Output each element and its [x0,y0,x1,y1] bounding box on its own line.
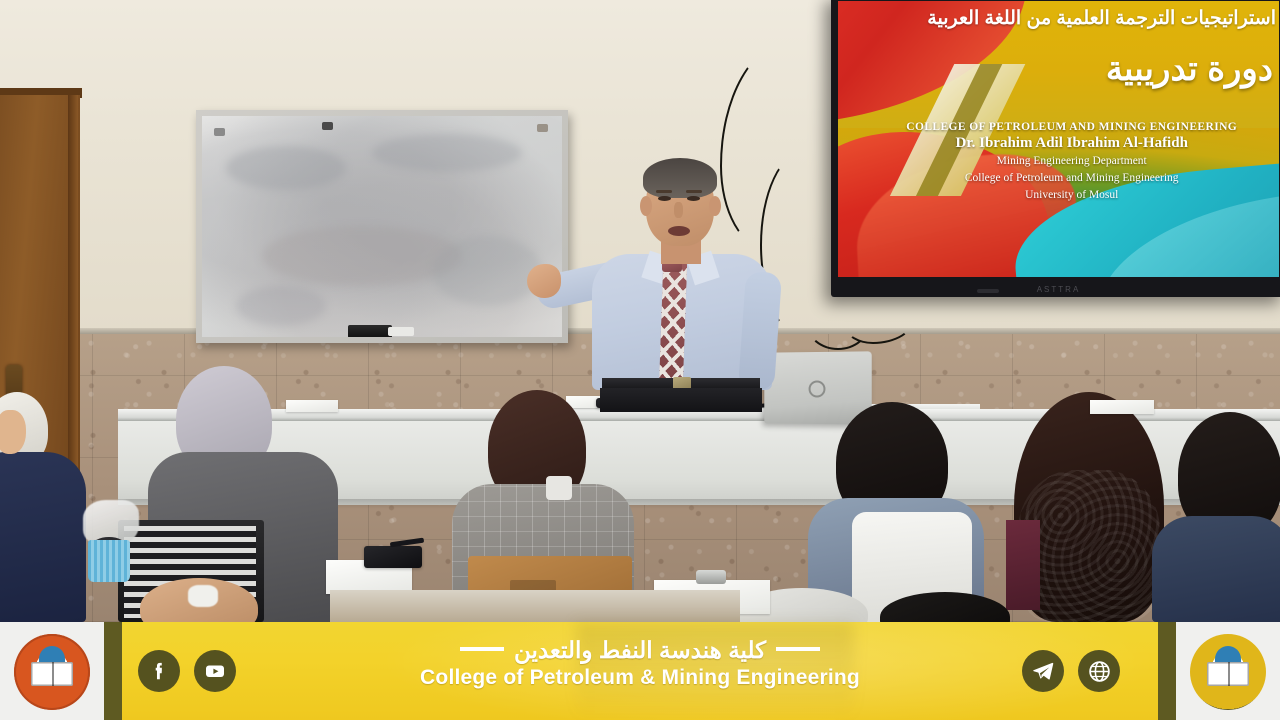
slide-text-block: COLLEGE OF PETROLEUM AND MINING ENGINEER… [873,121,1270,204]
presenter-ear [640,196,652,216]
clipboard-clip [696,570,726,584]
phone-on-desk [364,546,422,568]
slide-presenter-name: Dr. Ibrahim Adil Ibrahim Al-Hafidh [873,135,1270,152]
waste-basket [88,540,130,582]
whiteboard-smudge [372,134,522,172]
paper-sheet [286,400,338,412]
audience-body [1152,516,1280,622]
wall-mounted-display: استراتيجيات الترجمة العلمية من اللغة الع… [831,0,1280,297]
university-of-mosul-logo [14,634,90,710]
slide-college: College of Petroleum and Mining Engineer… [873,171,1270,186]
slide-department: Mining Engineering Department [873,154,1270,169]
presenter-eyebrow [656,190,672,193]
desk-front-edge [330,590,740,622]
laptop-logo-icon [809,381,826,398]
whiteboard-magnet [322,122,333,130]
audience-body [1006,520,1040,610]
logo-cpme-disc [1190,634,1266,710]
whiteboard-smudge [236,286,326,326]
slide-college-line: COLLEGE OF PETROLEUM AND MINING ENGINEER… [873,121,1270,133]
whiteboard-smudge [432,236,542,306]
presenter-nose [674,202,683,218]
branding-footer: كلية هندسة النفط والتعدين College of Pet… [0,622,1280,720]
slide-arabic-badge: دورة تدريبية [964,49,1273,89]
presenter-eyebrow [686,190,702,193]
presenter-hair [643,158,717,198]
website-globe-icon[interactable] [1078,650,1120,692]
slide-arabic-title: استراتيجيات الترجمة العلمية من اللغة الع… [897,8,1276,29]
telegram-icon[interactable] [1022,650,1064,692]
presenter-tie [659,262,687,391]
whiteboard-magnet [214,128,225,136]
presentation-slide: استراتيجيات الترجمة العلمية من اللغة الع… [838,1,1279,277]
presenter-trousers [600,388,762,412]
whiteboard-magnet [537,124,548,132]
presenter-eye [658,196,671,201]
presenter-hand [527,264,561,298]
audience-body [0,452,86,622]
audience-collar [546,476,572,500]
whiteboard-surface [202,116,562,337]
event-photo: استراتيجيات الترجمة العلمية من اللغة الع… [0,0,1280,622]
footer-arabic-label: كلية هندسة النفط والتعدين [514,637,766,663]
hp-laptop [764,351,871,424]
screenshot-root: استراتيجيات الترجمة العلمية من اللغة الع… [0,0,1280,720]
paper-sheet [1090,400,1154,414]
whiteboard [196,110,568,343]
display-ir-sensor [977,289,999,293]
logo-book-icon [1207,662,1249,686]
footer-dash-right [460,647,504,651]
slide-university: University of Mosul [873,188,1270,203]
logo-book-icon [31,662,73,686]
presenter-ear [709,196,721,216]
presenter-eye [687,196,700,201]
display-brand-label: ASTTRA [1037,285,1081,294]
presenter-mouth [668,226,690,236]
whiteboard-marker [388,327,414,336]
footer-dash-left [776,647,820,651]
logo-mosul-disc [14,634,90,710]
college-petroleum-mining-logo [1190,634,1266,710]
social-links-right[interactable] [1022,650,1120,692]
whiteboard-smudge [226,146,346,190]
whiteboard-eraser [348,325,392,337]
floor-paper [188,585,218,607]
